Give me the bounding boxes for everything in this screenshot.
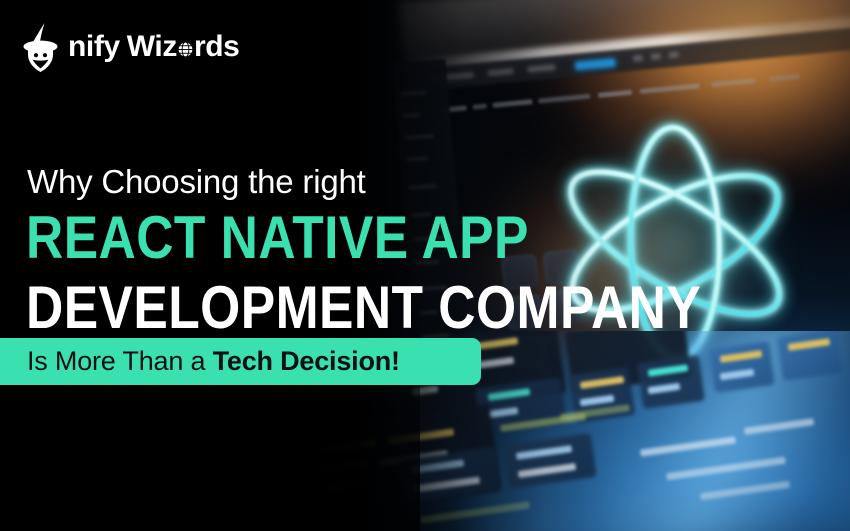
brand-name-part2: Wiz [127, 32, 177, 62]
tagline-text: Is More Than a Tech Decision! [27, 348, 400, 375]
tagline-banner: Is More Than a Tech Decision! [0, 338, 481, 385]
tagline-prefix: Is More Than a [27, 346, 213, 376]
tagline-emphasis: Tech Decision! [213, 346, 400, 376]
brand-logo[interactable]: nify Wiz rds [14, 18, 239, 74]
promo-banner: nify Wiz rds Why Choosing the right [0, 0, 850, 531]
brand-name-part1: nify [68, 32, 120, 62]
headline-line-2: REACT NATIVE APP [26, 208, 529, 268]
globe-icon [177, 41, 194, 58]
headline-line-1: Why Choosing the right [27, 165, 366, 198]
wizard-hat-icon [14, 18, 70, 74]
headline-line-3: DEVELOPMENT COMPANY [26, 278, 701, 338]
brand-name: nify Wiz rds [68, 32, 239, 62]
brand-name-part3: rds [194, 32, 240, 62]
content-layer: nify Wiz rds Why Choosing the right [0, 0, 850, 531]
